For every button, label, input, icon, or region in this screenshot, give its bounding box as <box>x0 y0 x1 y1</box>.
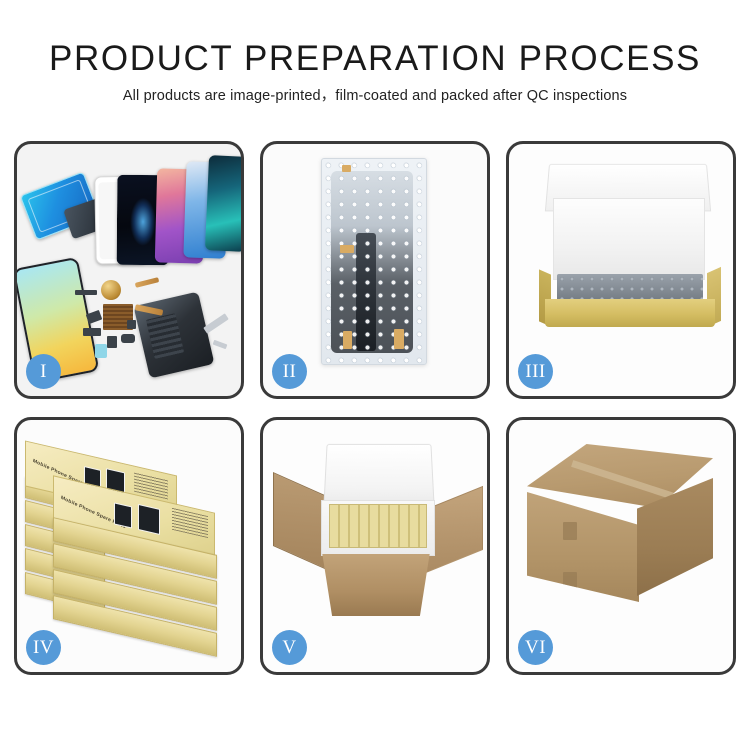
retail-box-stack: Mobile Phone Spare Parts Mobile Phone Sp… <box>23 440 241 636</box>
phone-back-shell <box>134 292 215 379</box>
process-step-3: III <box>506 141 736 399</box>
carton-flap-left <box>273 472 327 570</box>
header: PRODUCT PREPARATION PROCESS All products… <box>0 38 750 105</box>
step-badge-5: V <box>272 630 307 665</box>
product-preparation-infographic: PRODUCT PREPARATION PROCESS All products… <box>0 0 750 750</box>
part-button <box>121 334 135 343</box>
carton-front-panel <box>315 554 437 616</box>
flex-cable-1 <box>135 277 159 288</box>
step-badge-3: III <box>518 354 553 389</box>
tape-tab-bottom-left <box>343 331 352 349</box>
retail-box-speclines-front <box>172 508 208 538</box>
part-strip-1 <box>75 290 97 295</box>
process-step-1: I <box>14 141 244 399</box>
bubble-wrap-bag <box>321 158 427 365</box>
part-bracket-2 <box>83 328 101 336</box>
step-badge-6: VI <box>518 630 553 665</box>
part-chip <box>127 320 136 329</box>
process-step-2: II <box>260 141 490 399</box>
process-step-6: VI <box>506 417 736 675</box>
retail-box-thumb-front-2 <box>138 504 160 535</box>
bubble-texture <box>322 159 426 364</box>
part-connector <box>95 344 107 358</box>
part-camera <box>107 336 117 348</box>
foam-box-lid <box>323 444 434 508</box>
tape-tab-bottom-right <box>394 329 404 349</box>
carton-tab-upper <box>563 522 577 540</box>
process-step-grid: I II <box>14 141 736 675</box>
page-title: PRODUCT PREPARATION PROCESS <box>0 38 750 80</box>
teal-gradient-phone <box>205 155 241 252</box>
screwdriver-tool <box>213 340 228 349</box>
gold-speaker-part <box>101 280 121 300</box>
tape-tab-top <box>342 165 351 172</box>
inner-box-foam <box>553 198 705 280</box>
step-badge-1: I <box>26 354 61 389</box>
page-subtitle: All products are image-printed，film-coat… <box>0 87 750 105</box>
tweezers-tool <box>203 313 228 333</box>
shipping-carton-front <box>527 492 639 602</box>
inner-box-front-panel <box>545 299 715 327</box>
tape-tab-mid <box>340 245 354 253</box>
packed-yellow-boxes <box>329 504 427 548</box>
process-step-5: V <box>260 417 490 675</box>
step-badge-4: IV <box>26 630 61 665</box>
step-badge-2: II <box>272 354 307 389</box>
carton-tab-lower <box>563 572 577 590</box>
process-step-4: Mobile Phone Spare Parts Mobile Phone Sp… <box>14 417 244 675</box>
retail-box-thumb-front-1 <box>114 502 132 528</box>
